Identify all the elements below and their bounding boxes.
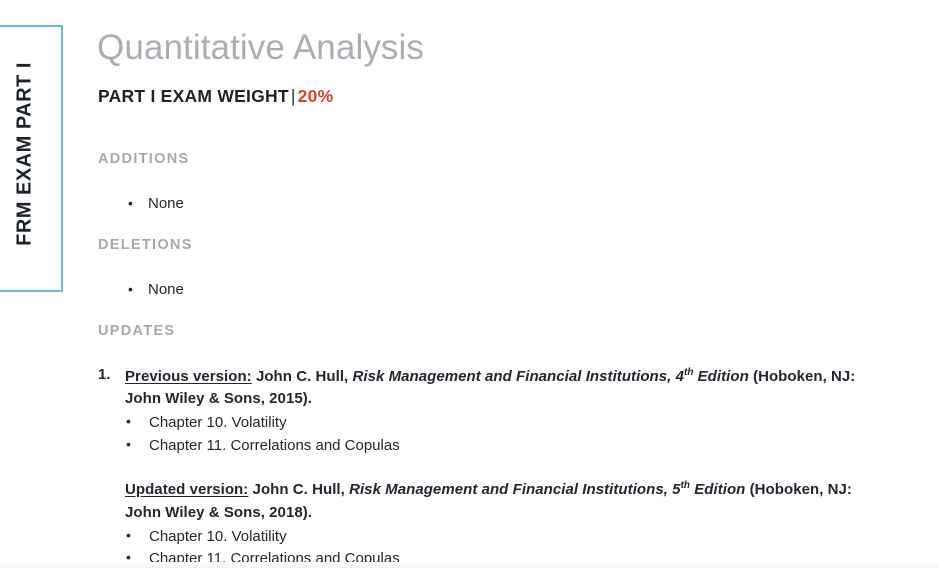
update-entry-body: Previous version: John C. Hull, Risk Man…: [125, 366, 879, 571]
previous-version-book-title: Risk Management and Financial Institutio…: [352, 368, 667, 385]
deletions-item-label: None: [148, 281, 184, 298]
additions-list-item: •None: [128, 195, 184, 212]
bullet-icon: •: [128, 281, 148, 297]
chapter-label: Chapter 10. Volatility: [149, 528, 287, 545]
previous-version-chapter-list: Chapter 10. Volatility Chapter 11. Corre…: [125, 412, 879, 457]
page-bottom-edge: [0, 562, 939, 568]
previous-version-citation: Previous version: John C. Hull, Risk Man…: [125, 366, 879, 410]
updated-version-label: Updated version:: [125, 481, 248, 498]
update-entry-number: 1.: [98, 366, 111, 383]
previous-version-label: Previous version:: [125, 368, 252, 385]
bullet-icon: •: [128, 195, 148, 211]
chapter-label: Chapter 11. Correlations and Copulas: [149, 437, 400, 454]
list-item: Chapter 11. Correlations and Copulas: [125, 435, 879, 458]
previous-version-author: John C. Hull,: [256, 368, 348, 385]
list-item: Chapter 10. Volatility: [125, 526, 879, 549]
updated-version-edition: 5th Edition: [672, 481, 745, 498]
section-heading-updates: UPDATES: [98, 323, 175, 339]
block-spacer: [125, 457, 879, 479]
section-heading-additions: ADDITIONS: [98, 151, 189, 167]
updated-version-edition-ordinal: th: [681, 480, 690, 491]
previous-version-edition-ordinal: th: [684, 367, 693, 378]
list-item: Chapter 10. Volatility: [125, 412, 879, 435]
previous-version-edition-word: Edition: [698, 368, 749, 385]
section-heading-deletions: DELETIONS: [98, 237, 193, 253]
updated-version-edition-number: 5: [672, 481, 680, 498]
exam-weight-value: 20%: [298, 86, 334, 106]
document-page: FRM EXAM PART I Quantitative Analysis PA…: [0, 0, 939, 568]
previous-version-edition-number: 4: [676, 368, 684, 385]
exam-weight-label: PART I EXAM WEIGHT: [98, 86, 289, 106]
update-entry: 1. Previous version: John C. Hull, Risk …: [97, 366, 879, 571]
updated-version-book-title: Risk Management and Financial Institutio…: [349, 481, 664, 498]
exam-weight-line: PART I EXAM WEIGHT|20%: [98, 86, 333, 107]
deletions-list-item: •None: [128, 281, 184, 298]
updated-version-author: John C. Hull,: [253, 481, 345, 498]
exam-weight-separator: |: [289, 86, 298, 106]
updated-version-edition-word: Edition: [694, 481, 745, 498]
updated-version-citation: Updated version: John C. Hull, Risk Mana…: [125, 479, 879, 523]
page-title: Quantitative Analysis: [97, 30, 424, 67]
sidebar-exam-part-label: FRM EXAM PART I: [13, 62, 36, 256]
additions-item-label: None: [148, 195, 184, 212]
document-content: Quantitative Analysis PART I EXAM WEIGHT…: [97, 0, 939, 568]
chapter-label: Chapter 10. Volatility: [149, 414, 287, 431]
previous-version-edition: 4th Edition: [676, 368, 749, 385]
sidebar-exam-part-tab: FRM EXAM PART I: [0, 25, 63, 292]
